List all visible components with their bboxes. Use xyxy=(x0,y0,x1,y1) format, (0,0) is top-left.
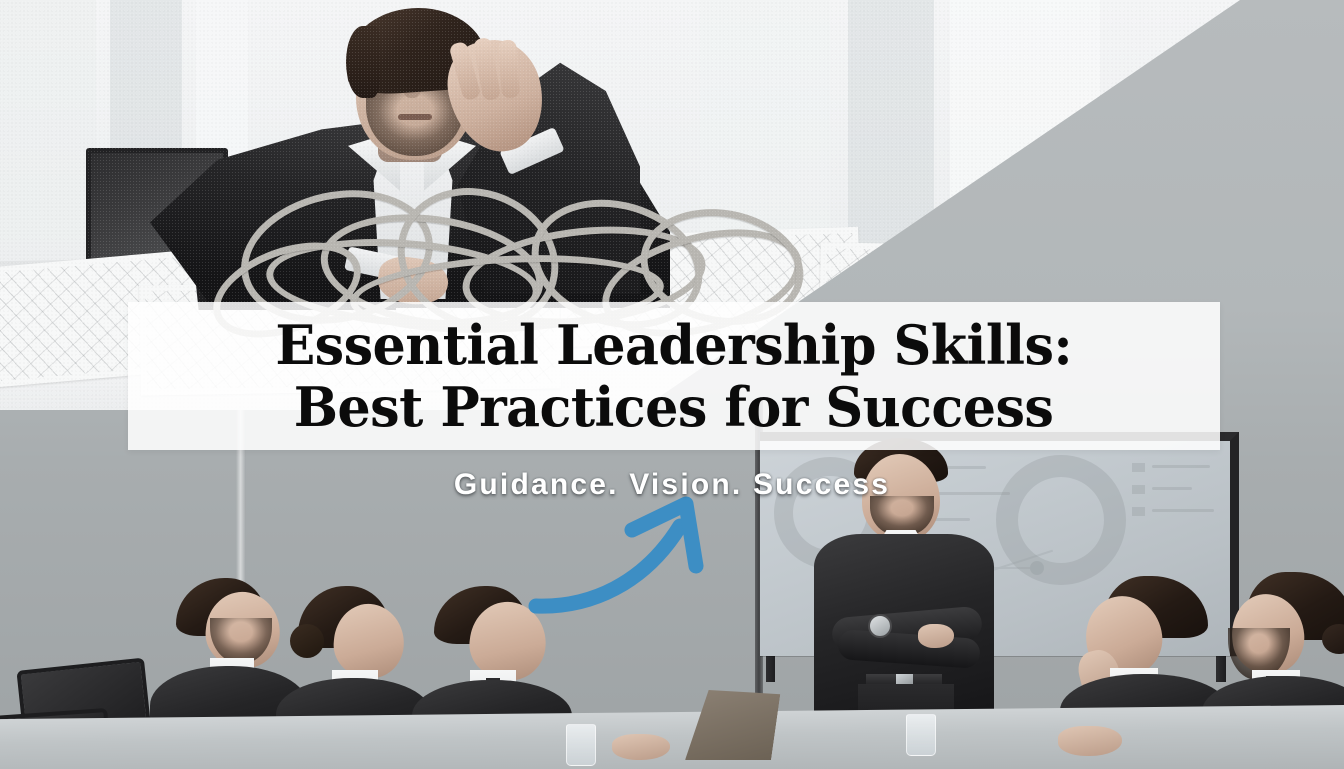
window-blind xyxy=(0,0,96,250)
businessman-mouth xyxy=(398,114,432,120)
slide-legend-swatch xyxy=(1132,463,1145,472)
title-band: Essential Leadership Skills: Best Practi… xyxy=(128,302,1220,450)
water-glass xyxy=(566,724,596,766)
upward-growth-arrow xyxy=(520,488,750,628)
slide-legend-line xyxy=(1152,465,1210,468)
page-title-line-2: Best Practices for Success xyxy=(294,379,1054,435)
audience-hair-bun xyxy=(290,624,324,658)
slide-legend-line xyxy=(1152,509,1214,512)
businessman-sideburn xyxy=(346,26,380,98)
leader-hand xyxy=(918,624,954,648)
page-title-line-1: Essential Leadership Skills: xyxy=(276,317,1073,373)
water-glass xyxy=(906,714,936,756)
resting-hand xyxy=(1058,726,1122,756)
resting-hand xyxy=(612,734,670,760)
leadership-poster: Essential Leadership Skills: Best Practi… xyxy=(0,0,1344,769)
slide-legend-line xyxy=(1152,487,1192,490)
slide-legend-swatch xyxy=(1132,485,1145,494)
audience-hair-ponytail xyxy=(1322,624,1344,654)
leader-wrist-watch xyxy=(868,614,892,638)
slide-legend-swatch xyxy=(1132,507,1145,516)
standing-leader xyxy=(796,438,1026,738)
